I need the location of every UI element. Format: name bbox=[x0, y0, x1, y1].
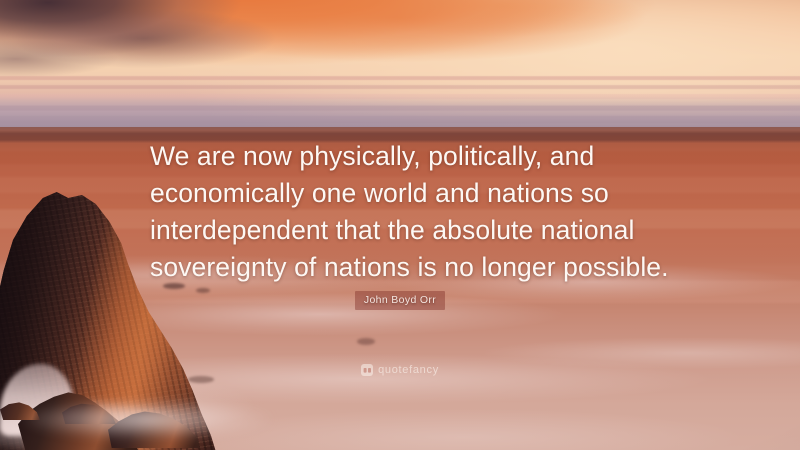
distant-rock-speck bbox=[188, 376, 214, 383]
quote-line: interdependent that the absolute nationa… bbox=[150, 212, 670, 249]
horizon-haze-band bbox=[0, 96, 800, 128]
quote-line: sovereignty of nations is no longer poss… bbox=[150, 249, 670, 286]
author-name-badge: John Boyd Orr bbox=[355, 291, 445, 310]
foreground-rock-mist bbox=[0, 388, 290, 444]
quote-wallpaper: We are now physically, politically, and … bbox=[0, 0, 800, 450]
watermark-label: quotefancy bbox=[378, 364, 439, 376]
distant-rock-speck bbox=[357, 338, 375, 345]
quote-line: economically one world and nations so bbox=[150, 175, 670, 212]
quote-text-block: We are now physically, politically, and … bbox=[150, 138, 670, 286]
quotefancy-watermark: quotefancy bbox=[0, 364, 800, 376]
quote-line: We are now physically, politically, and bbox=[150, 138, 670, 175]
author-row: John Boyd Orr bbox=[0, 290, 800, 310]
quote-mark-badge-icon bbox=[361, 364, 373, 376]
